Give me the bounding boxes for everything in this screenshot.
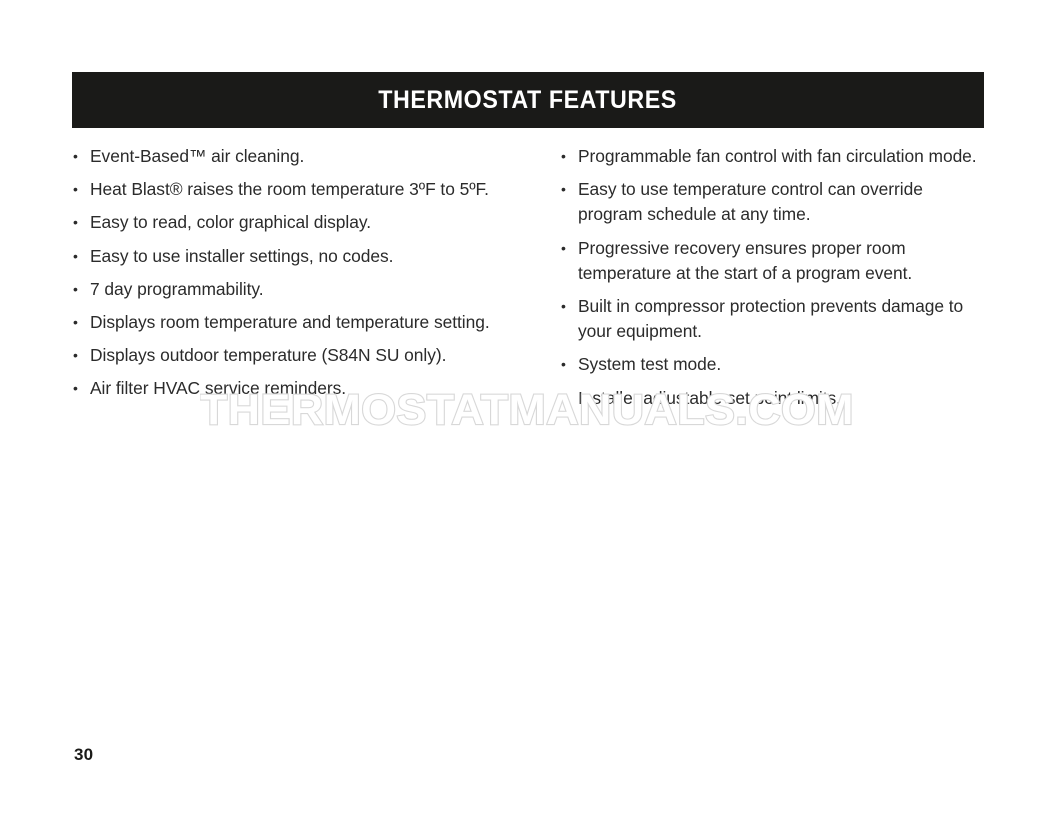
feature-list-item: •Installer adjustable set point limits. — [560, 386, 984, 411]
feature-list-item-label: Progressive recovery ensures proper room… — [578, 238, 912, 283]
bullet-icon: • — [73, 376, 83, 401]
bullet-icon: • — [73, 277, 83, 302]
feature-list-item-label: Event-Based™ air cleaning. — [90, 146, 304, 166]
bullet-icon: • — [73, 144, 83, 169]
feature-list-item-label: Built in compressor protection prevents … — [578, 296, 963, 341]
feature-list-item: •Easy to use installer settings, no code… — [72, 244, 492, 269]
feature-list-item-label: Installer adjustable set point limits. — [578, 388, 841, 408]
feature-list-item: •Easy to use temperature control can ove… — [560, 177, 984, 227]
bullet-icon: • — [73, 343, 83, 368]
feature-list-item-label: System test mode. — [578, 354, 721, 374]
page-title: THERMOSTAT FEATURES — [379, 86, 678, 115]
bullet-icon: • — [561, 177, 571, 202]
bullet-icon: • — [73, 310, 83, 335]
feature-list-item-label: Programmable fan control with fan circul… — [578, 146, 977, 166]
feature-columns: •Event-Based™ air cleaning.•Heat Blast® … — [72, 144, 984, 411]
left-column: •Event-Based™ air cleaning.•Heat Blast® … — [72, 144, 492, 411]
feature-list-item-label: Easy to use temperature control can over… — [578, 179, 923, 224]
feature-list-item: •Built in compressor protection prevents… — [560, 294, 984, 344]
feature-list-right: •Programmable fan control with fan circu… — [560, 144, 984, 411]
bullet-icon: • — [561, 236, 571, 261]
feature-list-item: •Event-Based™ air cleaning. — [72, 144, 492, 169]
feature-list-item: •Displays outdoor temperature (S84N SU o… — [72, 343, 492, 368]
feature-list-item: •Easy to read, color graphical display. — [72, 210, 492, 235]
feature-list-item-label: Easy to use installer settings, no codes… — [90, 246, 393, 266]
feature-list-left: •Event-Based™ air cleaning.•Heat Blast® … — [72, 144, 492, 402]
feature-list-item: •7 day programmability. — [72, 277, 492, 302]
feature-list-item-label: Heat Blast® raises the room temperature … — [90, 179, 489, 199]
page-number: 30 — [74, 745, 93, 765]
bullet-icon: • — [561, 386, 571, 411]
feature-list-item-label: Air filter HVAC service reminders. — [90, 378, 346, 398]
bullet-icon: • — [73, 210, 83, 235]
feature-list-item: •Heat Blast® raises the room temperature… — [72, 177, 492, 202]
feature-list-item: •Air filter HVAC service reminders. — [72, 376, 492, 401]
bullet-icon: • — [561, 144, 571, 169]
feature-list-item: •Programmable fan control with fan circu… — [560, 144, 984, 169]
bullet-icon: • — [73, 177, 83, 202]
bullet-icon: • — [73, 244, 83, 269]
feature-list-item-label: 7 day programmability. — [90, 279, 264, 299]
feature-list-item: •System test mode. — [560, 352, 984, 377]
section-header-bar: THERMOSTAT FEATURES — [72, 72, 984, 128]
feature-list-item: •Displays room temperature and temperatu… — [72, 310, 492, 335]
document-page: THERMOSTAT FEATURES •Event-Based™ air cl… — [0, 0, 1056, 816]
bullet-icon: • — [561, 352, 571, 377]
feature-list-item-label: Displays outdoor temperature (S84N SU on… — [90, 345, 446, 365]
feature-list-item-label: Displays room temperature and temperatur… — [90, 312, 490, 332]
feature-list-item-label: Easy to read, color graphical display. — [90, 212, 371, 232]
bullet-icon: • — [561, 294, 571, 319]
feature-list-item: •Progressive recovery ensures proper roo… — [560, 236, 984, 286]
right-column: •Programmable fan control with fan circu… — [560, 144, 984, 411]
